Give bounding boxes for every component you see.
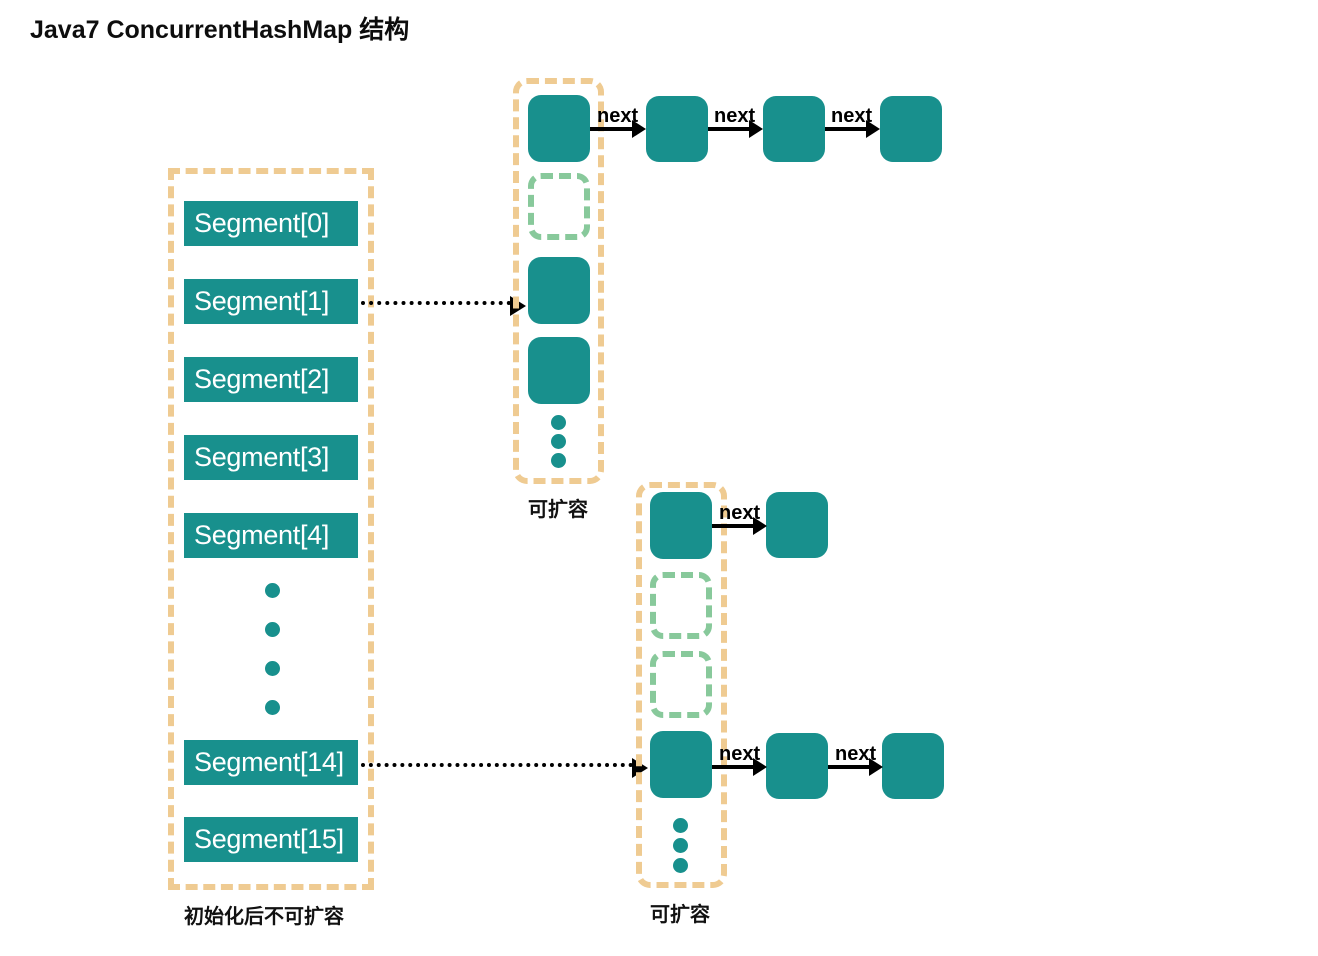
chain-top-arrow-2 bbox=[708, 127, 750, 131]
bucket-top-slot-2[interactable] bbox=[528, 257, 590, 324]
page-title: Java7 ConcurrentHashMap 结构 bbox=[30, 10, 409, 46]
bucket-top-slot-1-empty[interactable] bbox=[528, 173, 590, 240]
segment-ellipsis-dot-2 bbox=[265, 622, 280, 637]
concurrenthashmap-diagram: Java7 ConcurrentHashMap 结构 Segment[0] Se… bbox=[0, 0, 1318, 956]
segment-cell-14[interactable]: Segment[14] bbox=[184, 740, 358, 785]
chain-top-node-1[interactable] bbox=[646, 96, 708, 162]
chain-top-next-label-1: next bbox=[597, 106, 638, 126]
chain-top-next-label-3: next bbox=[831, 106, 872, 126]
bucket-top-slot-0[interactable] bbox=[528, 95, 590, 162]
chain-top-node-3[interactable] bbox=[880, 96, 942, 162]
segment-ellipsis-dot-1 bbox=[265, 583, 280, 598]
chain-middle-arrow-1 bbox=[712, 524, 754, 528]
connector-segment14-to-bucket-bottom bbox=[361, 763, 633, 767]
bucket-bottom-slot-0[interactable] bbox=[650, 492, 712, 559]
segment-cell-4[interactable]: Segment[4] bbox=[184, 513, 358, 558]
chain-bottom-arrow-1 bbox=[712, 765, 754, 769]
bucket-bottom-slot-3[interactable] bbox=[650, 731, 712, 798]
bucket-top-ellipsis-dot-3 bbox=[551, 453, 566, 468]
segment-cell-1[interactable]: Segment[1] bbox=[184, 279, 358, 324]
chain-bottom-node-1[interactable] bbox=[766, 733, 828, 799]
segment-ellipsis-dot-3 bbox=[265, 661, 280, 676]
bucket-bottom-ellipsis-dot-2 bbox=[673, 838, 688, 853]
chain-top-arrow-1 bbox=[590, 127, 633, 131]
chain-bottom-next-label-2: next bbox=[835, 744, 876, 764]
segment-cell-3[interactable]: Segment[3] bbox=[184, 435, 358, 480]
chain-bottom-next-label-1: next bbox=[719, 744, 760, 764]
bucket-bottom-slot-1-empty[interactable] bbox=[650, 572, 712, 639]
segment-cell-2[interactable]: Segment[2] bbox=[184, 357, 358, 402]
bucket-top-ellipsis-dot-2 bbox=[551, 434, 566, 449]
bucket-bottom-ellipsis-dot-1 bbox=[673, 818, 688, 833]
segment-ellipsis-dot-4 bbox=[265, 700, 280, 715]
connector-segment1-to-bucket-top bbox=[361, 301, 511, 305]
bucket-bottom-slot-2-empty[interactable] bbox=[650, 651, 712, 718]
segment-array-caption: 初始化后不可扩容 bbox=[184, 907, 344, 927]
bucket-bottom-ellipsis-dot-3 bbox=[673, 858, 688, 873]
segment-cell-0[interactable]: Segment[0] bbox=[184, 201, 358, 246]
bucket-array-bottom-caption: 可扩容 bbox=[650, 905, 710, 925]
chain-middle-next-label-1: next bbox=[719, 503, 760, 523]
bucket-top-slot-3[interactable] bbox=[528, 337, 590, 404]
chain-top-node-2[interactable] bbox=[763, 96, 825, 162]
chain-middle-node-1[interactable] bbox=[766, 492, 828, 558]
chain-bottom-arrow-2 bbox=[828, 765, 870, 769]
bucket-array-top-caption: 可扩容 bbox=[528, 500, 588, 520]
chain-top-arrow-3 bbox=[825, 127, 867, 131]
segment-cell-15[interactable]: Segment[15] bbox=[184, 817, 358, 862]
chain-bottom-node-2[interactable] bbox=[882, 733, 944, 799]
bucket-top-ellipsis-dot-1 bbox=[551, 415, 566, 430]
chain-top-next-label-2: next bbox=[714, 106, 755, 126]
